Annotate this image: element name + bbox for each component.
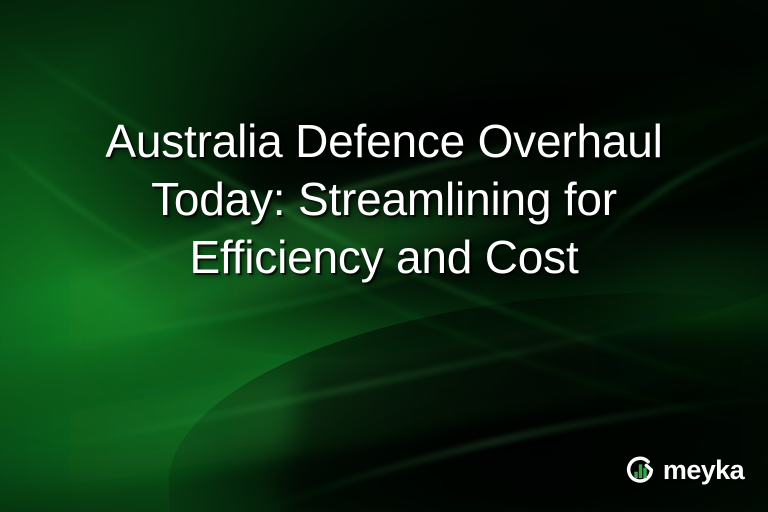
circular-bar-chart-icon <box>624 454 656 486</box>
logo-bar-right <box>643 468 646 478</box>
brand-logo[interactable]: meyka <box>624 454 744 486</box>
title-line-2: Today: Streamlining for <box>40 170 728 228</box>
title-line-3: Efficiency and Cost <box>40 228 728 286</box>
logo-bar-middle <box>639 464 642 478</box>
logo-ring-tail <box>646 465 651 470</box>
logo-bar-left <box>634 472 637 478</box>
title-line-1: Australia Defence Overhaul <box>40 112 728 170</box>
article-banner: Australia Defence Overhaul Today: Stream… <box>0 0 768 512</box>
page-title: Australia Defence Overhaul Today: Stream… <box>0 112 768 286</box>
logo-wordmark: meyka <box>663 457 744 484</box>
